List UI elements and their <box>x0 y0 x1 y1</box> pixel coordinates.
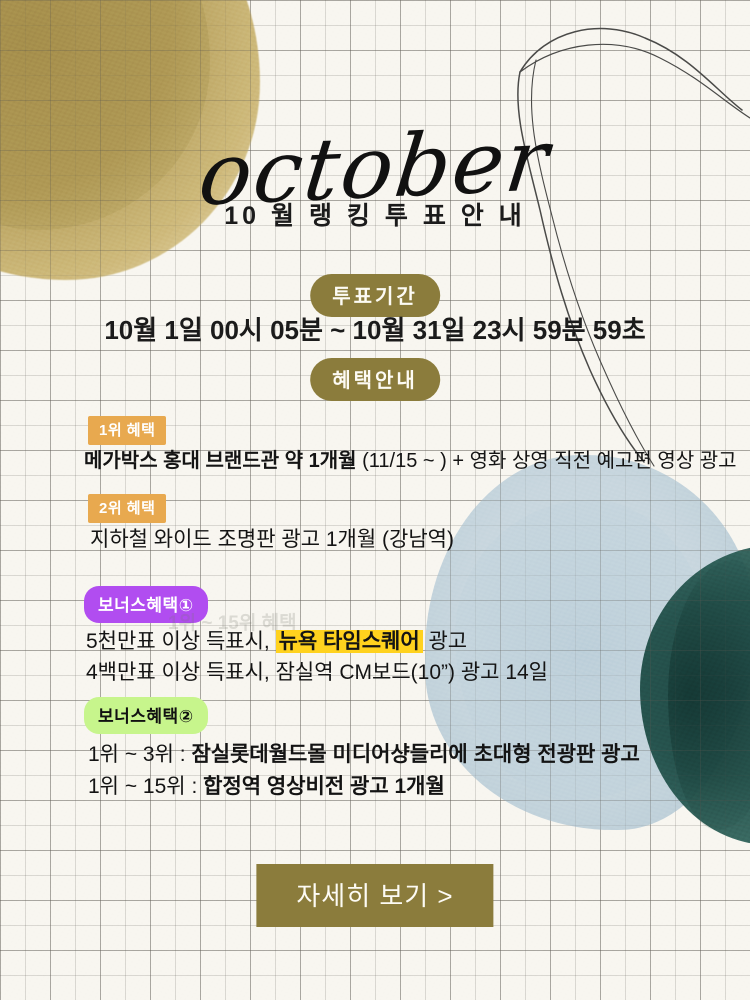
bonus2-line1: 1위 ~ 3위 : 잠실롯데월드몰 미디어샹들리에 초대형 전광판 광고 <box>88 738 640 768</box>
bonus2-badge: 보너스혜택② <box>84 697 208 734</box>
bonus2-line1-bold: 잠실롯데월드몰 미디어샹들리에 초대형 전광판 광고 <box>191 743 639 766</box>
bonus1-line2-pre: 4백만표 이상 득표시, 잠실역 CM보드(10”) 광고 14일 <box>86 661 548 684</box>
benefit-info-pill: 혜택안내 <box>310 358 440 401</box>
bonus1-line1-post: 광고 <box>423 630 467 653</box>
bonus1-line2: 4백만표 이상 득표시, 잠실역 CM보드(10”) 광고 14일 <box>86 656 548 686</box>
poster-canvas: october 10 월 랭 킹 투 표 안 내 투표기간 10월 1일 00시… <box>0 0 750 1000</box>
vote-period-text: 10월 1일 00시 05분 ~ 10월 31일 23시 59분 59초 <box>0 310 750 347</box>
bonus2-line2-bold: 합정역 영상비전 광고 1개월 <box>203 775 445 798</box>
view-details-button[interactable]: 자세히 보기 > <box>256 864 493 927</box>
rank2-text: 지하철 와이드 조명판 광고 1개월 (강남역) <box>90 523 454 553</box>
bonus1-line1-highlight: 뉴욕 타임스퀘어 <box>276 630 423 653</box>
bonus2-line1-pre: 1위 ~ 3위 : <box>88 743 191 766</box>
bonus1-line1: 5천만표 이상 득표시, 뉴욕 타임스퀘어 광고 <box>86 625 467 655</box>
bonus2-line2: 1위 ~ 15위 : 합정역 영상비전 광고 1개월 <box>88 770 445 800</box>
rank1-badge: 1위 혜택 <box>88 416 166 445</box>
rank1-text-rest: (11/15 ~ ) + 영화 상영 직전 예고편 영상 광고 <box>357 450 737 472</box>
rank2-badge: 2위 혜택 <box>88 494 166 523</box>
rank1-text-bold: 메가박스 홍대 브랜드관 약 1개월 <box>84 450 357 472</box>
bonus2-line2-pre: 1위 ~ 15위 : <box>88 775 203 798</box>
bonus1-line1-pre: 5천만표 이상 득표시, <box>86 630 276 653</box>
page-subtitle: 10 월 랭 킹 투 표 안 내 <box>0 196 750 232</box>
rank1-text: 메가박스 홍대 브랜드관 약 1개월 (11/15 ~ ) + 영화 상영 직전… <box>84 444 737 473</box>
